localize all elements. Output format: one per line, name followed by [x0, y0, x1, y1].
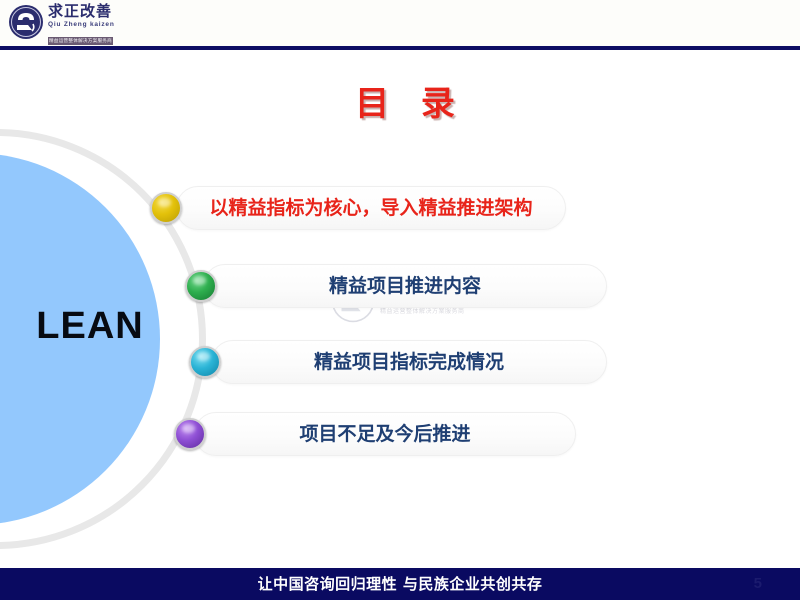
footer-slogan: 让中国咨询回归理性 与民族企业共创共存: [0, 568, 800, 600]
slide-footer: 让中国咨询回归理性 与民族企业共创共存 5: [0, 568, 800, 600]
qiuzheng-swirl-logo-icon: [8, 4, 44, 40]
agenda-item-1[interactable]: 以精益指标为核心，导入精益推进架构: [176, 186, 566, 230]
brand-name-cn: 求正改善: [48, 4, 132, 20]
watermark-tagline: 精益运营整体解决方案服务商: [380, 308, 470, 317]
page-number: 5: [754, 568, 762, 600]
slide-header: 求正改善 Qiu Zheng kaizen 精益运营整体解决方案服务商: [0, 0, 800, 47]
page-title: 目 录: [300, 76, 520, 125]
brand-tagline: 精益运营整体解决方案服务商: [48, 37, 113, 45]
brand-logo: 求正改善 Qiu Zheng kaizen 精益运营整体解决方案服务商: [8, 2, 128, 42]
header-divider: [0, 46, 800, 50]
slide-canvas: 求正改善 Qiu Zheng kaizen 精益运营整体解决方案服务商 目 录 …: [0, 0, 800, 600]
agenda-item-3-label: 精益项目指标完成情况: [221, 340, 597, 384]
agenda-item-2-label: 精益项目推进内容: [213, 264, 597, 308]
brand-name-pinyin: Qiu Zheng kaizen: [48, 20, 132, 29]
brand-logo-text: 求正改善 Qiu Zheng kaizen 精益运营整体解决方案服务商: [48, 4, 132, 47]
agenda-item-2[interactable]: 精益项目推进内容: [203, 264, 607, 308]
bullet-green[interactable]: [185, 270, 217, 302]
agenda-item-4-label: 项目不足及今后推进: [204, 412, 566, 456]
agenda-item-1-label: 以精益指标为核心，导入精益推进架构: [186, 186, 556, 230]
agenda-item-3[interactable]: 精益项目指标完成情况: [211, 340, 607, 384]
bullet-cyan[interactable]: [189, 346, 221, 378]
lean-label: LEAN: [20, 305, 160, 348]
bullet-purple[interactable]: [174, 418, 206, 450]
agenda-item-4[interactable]: 项目不足及今后推进: [194, 412, 576, 456]
bullet-gold[interactable]: [150, 192, 182, 224]
